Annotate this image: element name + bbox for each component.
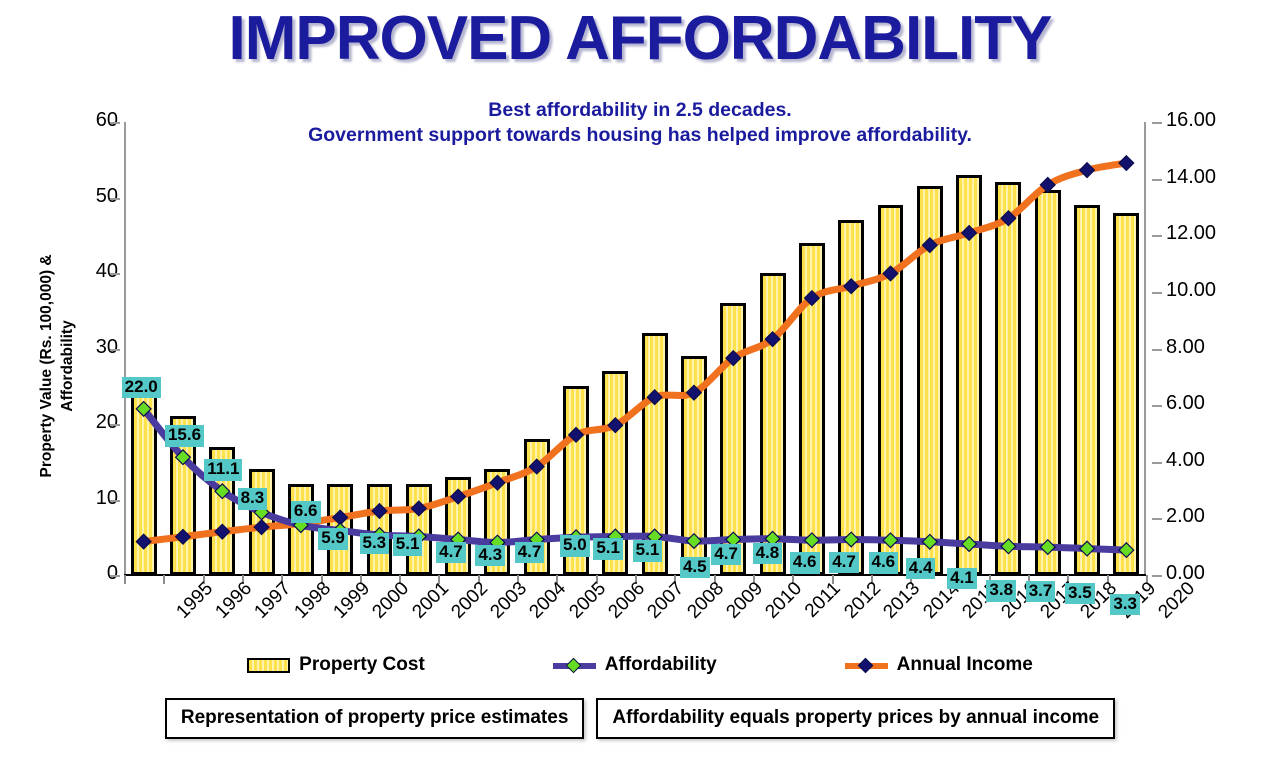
data-label-affordability-2014: 4.6	[869, 552, 899, 573]
y-axis-right-tick: 12.00	[1166, 222, 1216, 245]
y-axis-right-tickmark	[1152, 122, 1162, 124]
plot-area: 22.015.611.18.36.65.95.35.14.74.34.75.05…	[124, 122, 1146, 575]
x-axis-label-2008: 2008	[683, 578, 728, 623]
x-axis-label-2010: 2010	[762, 578, 807, 623]
y-axis-left: 0102030405060	[40, 0, 118, 762]
y-axis-left-tick: 50	[96, 185, 118, 208]
y-axis-left-tick: 60	[96, 109, 118, 132]
affordability-marker[interactable]	[844, 532, 859, 547]
y-axis-right-tick: 4.00	[1166, 449, 1205, 472]
y-axis-left-tick: 30	[96, 336, 118, 359]
page-title: IMPROVED AFFORDABILITY	[0, 6, 1280, 73]
x-axis-label-2004: 2004	[526, 578, 571, 623]
legend-swatch-line-icon	[553, 658, 596, 673]
y-axis-left-tickmark	[110, 273, 120, 275]
y-axis-right: 0.002.004.006.008.0010.0012.0014.0016.00	[1152, 0, 1242, 762]
y-axis-right-tickmark	[1152, 518, 1162, 520]
data-label-affordability-2001: 5.3	[360, 533, 390, 554]
data-label-affordability-2015: 4.4	[906, 558, 936, 579]
data-label-affordability-1998: 8.3	[238, 488, 268, 509]
data-label-affordability-2006: 5.0	[560, 535, 590, 556]
affordability-marker[interactable]	[687, 534, 702, 549]
data-label-affordability-2000: 5.9	[318, 528, 348, 549]
y-axis-left-tickmark	[110, 349, 120, 351]
affordability-line	[144, 409, 1127, 550]
x-axis-label-1998: 1998	[290, 578, 335, 623]
affordability-marker[interactable]	[883, 533, 898, 548]
data-label-affordability-1999: 6.6	[291, 501, 321, 522]
y-axis-left-tickmark	[110, 575, 120, 577]
data-label-affordability-2008: 5.1	[633, 540, 663, 561]
footer-note-1: Representation of property price estimat…	[165, 698, 585, 739]
y-axis-left-tick: 10	[96, 487, 118, 510]
footer-note-2: Affordability equals property prices by …	[596, 698, 1115, 739]
data-label-affordability-2009: 4.5	[680, 557, 710, 578]
annual-income-marker[interactable]	[372, 504, 387, 519]
legend-diamond-marker-icon	[566, 657, 582, 673]
data-label-affordability-2003: 4.7	[436, 542, 466, 563]
legend-label: Affordability	[605, 654, 717, 676]
x-axis-label-2007: 2007	[644, 578, 689, 623]
x-axis-label-2011: 2011	[801, 578, 845, 622]
y-axis-right-tickmark	[1152, 179, 1162, 181]
affordability-marker[interactable]	[922, 534, 937, 549]
affordability-marker[interactable]	[1080, 541, 1095, 556]
data-label-affordability-2019: 3.5	[1065, 583, 1095, 604]
affordability-marker[interactable]	[1001, 539, 1016, 554]
y-axis-right-tickmark	[1152, 405, 1162, 407]
annual-income-marker[interactable]	[136, 534, 151, 549]
x-axis-label-1995: 1995	[172, 578, 217, 623]
data-label-affordability-2011: 4.8	[753, 543, 783, 564]
data-label-affordability-2013: 4.7	[829, 552, 859, 573]
y-axis-right-tick: 8.00	[1166, 336, 1205, 359]
y-axis-right-tick: 2.00	[1166, 505, 1205, 528]
legend-swatch-line-icon	[845, 658, 888, 673]
legend-item-annual-income[interactable]: Annual Income	[845, 654, 1033, 676]
y-axis-left-tickmark	[110, 424, 120, 426]
y-axis-right-tickmark	[1152, 575, 1162, 577]
legend-label: Property Cost	[299, 654, 425, 676]
legend-item-affordability[interactable]: Affordability	[553, 654, 717, 676]
y-axis-right-tickmark	[1152, 349, 1162, 351]
y-axis-right-tick: 10.00	[1166, 279, 1216, 302]
footer-notes: Representation of property price estimat…	[0, 698, 1280, 739]
x-axis-label-1997: 1997	[251, 578, 296, 623]
affordability-marker[interactable]	[1040, 540, 1055, 555]
annual-income-marker[interactable]	[411, 501, 426, 516]
data-label-affordability-2012: 4.6	[790, 552, 820, 573]
annual-income-line	[144, 163, 1127, 542]
x-axis-label-2000: 2000	[369, 578, 414, 623]
line-series-overlay	[124, 122, 1146, 575]
y-axis-left-tickmark	[110, 198, 120, 200]
x-axis-label-2005: 2005	[565, 578, 610, 623]
data-label-affordability-2004: 4.3	[475, 545, 505, 566]
annual-income-marker[interactable]	[215, 524, 230, 539]
legend-swatch-bar-icon	[247, 658, 290, 673]
y-axis-right-tick: 14.00	[1166, 166, 1216, 189]
annual-income-marker[interactable]	[1080, 163, 1095, 178]
data-label-affordability-1995: 22.0	[122, 377, 161, 398]
data-label-affordability-1997: 11.1	[204, 459, 242, 480]
y-axis-right-tickmark	[1152, 462, 1162, 464]
data-label-affordability-2007: 5.1	[593, 538, 623, 559]
x-axis-label-2001: 2001	[408, 578, 453, 623]
data-label-affordability-2018: 3.7	[1026, 581, 1056, 602]
affordability-marker[interactable]	[1119, 543, 1134, 558]
data-label-affordability-1996: 15.6	[165, 425, 204, 446]
subtitle-line-1: Best affordability in 2.5 decades.	[0, 98, 1280, 123]
x-axis-label-2003: 2003	[486, 578, 531, 623]
y-axis-left-tick: 20	[96, 411, 118, 434]
legend-item-property-cost[interactable]: Property Cost	[247, 654, 425, 676]
chart-legend: Property CostAffordabilityAnnual Income	[0, 654, 1280, 676]
data-label-affordability-2017: 3.8	[986, 580, 1016, 601]
data-label-affordability-2005: 4.7	[515, 542, 545, 563]
data-label-affordability-2010: 4.7	[711, 544, 741, 565]
x-axis-label-1996: 1996	[211, 578, 256, 623]
data-label-affordability-2002: 5.1	[393, 534, 423, 555]
y-axis-right-tickmark	[1152, 235, 1162, 237]
x-axis-label-2006: 2006	[604, 578, 649, 623]
annual-income-marker[interactable]	[176, 529, 191, 544]
data-label-affordability-2016: 4.1	[947, 568, 977, 589]
y-axis-right-tick: 16.00	[1166, 109, 1216, 132]
y-axis-left-tickmark	[110, 122, 120, 124]
data-label-affordability-2020: 3.3	[1110, 594, 1140, 615]
y-axis-left-tickmark	[110, 500, 120, 502]
y-axis-left-tick: 40	[96, 260, 118, 283]
x-axis-label-1999: 1999	[329, 578, 374, 623]
legend-diamond-marker-icon	[857, 657, 873, 673]
x-axis-label-2012: 2012	[840, 578, 885, 623]
x-axis-label-2009: 2009	[722, 578, 767, 623]
annual-income-marker[interactable]	[844, 279, 859, 294]
affordability-marker[interactable]	[962, 537, 977, 552]
y-axis-left-tick: 0	[107, 562, 118, 585]
y-axis-right-tickmark	[1152, 292, 1162, 294]
x-axis-label-2013: 2013	[880, 578, 925, 623]
affordability-marker[interactable]	[805, 533, 820, 548]
annual-income-marker[interactable]	[254, 520, 269, 535]
x-axis-label-2002: 2002	[447, 578, 492, 623]
y-axis-right-tick: 6.00	[1166, 392, 1205, 415]
legend-label: Annual Income	[897, 654, 1033, 676]
annual-income-marker[interactable]	[1119, 156, 1134, 171]
